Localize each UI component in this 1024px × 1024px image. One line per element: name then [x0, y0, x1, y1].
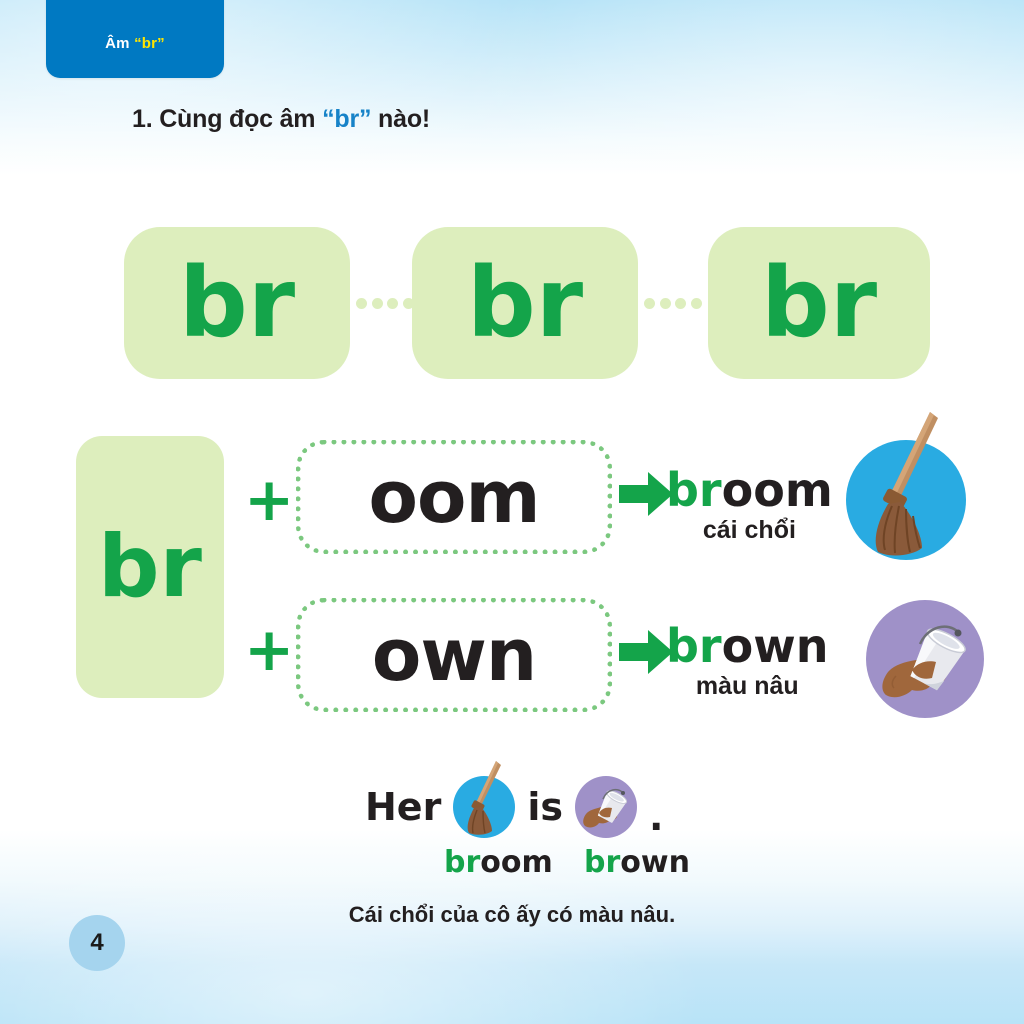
broom-icon	[846, 440, 966, 560]
section-tab-sound: “br”	[134, 35, 165, 52]
dot-connector-1	[356, 296, 414, 310]
sentence-label-broom-prefix: br	[444, 845, 480, 880]
sentence-word-is: is	[527, 788, 563, 826]
brown-paint-picture	[866, 600, 984, 718]
arrow-right-icon	[619, 472, 673, 516]
connector-dot	[387, 298, 398, 309]
paint-bucket-icon	[575, 776, 637, 838]
sentence-word-her: Her	[365, 788, 441, 826]
practice-tile-1: br	[124, 227, 350, 379]
connector-dot	[644, 298, 655, 309]
section-tab-prefix: Âm	[105, 35, 134, 52]
arrow-right-icon	[619, 630, 673, 674]
result-word-broom-rest: oom	[722, 463, 833, 517]
onset-tile: br	[76, 436, 224, 698]
paint-bucket-icon	[866, 600, 984, 718]
connector-dot	[660, 298, 671, 309]
onset-tile-label: br	[98, 524, 202, 610]
rime-box-own-label: own	[372, 619, 536, 691]
sentence-brown-picture	[575, 776, 637, 838]
rime-box-oom: oom	[296, 440, 612, 554]
page-number-badge: 4	[69, 915, 125, 971]
instruction-suffix: nào!	[371, 105, 430, 133]
connector-dot	[372, 298, 383, 309]
practice-tile-1-label: br	[179, 255, 295, 351]
section-tab: Âm “br”	[46, 0, 224, 78]
section-tab-label: Âm “br”	[46, 35, 224, 52]
result-word-brown-text: brown	[666, 622, 828, 670]
dot-connector-2	[644, 296, 702, 310]
result-word-brown-prefix: br	[666, 619, 722, 673]
worksheet-page: Âm “br” 1. Cùng đọc âm “br” nào! br br b…	[0, 0, 1024, 1024]
result-word-broom-prefix: br	[666, 463, 722, 517]
sentence-label-broom: broom	[444, 848, 553, 878]
connector-dot	[675, 298, 686, 309]
instruction-prefix: 1. Cùng đọc âm	[132, 105, 322, 133]
sentence-label-brown-rest: own	[620, 845, 690, 880]
result-word-brown-rest: own	[722, 619, 829, 673]
sentence-period: .	[649, 798, 663, 838]
sentence-caption: Cái chổi của cô ấy có màu nâu.	[0, 902, 1024, 928]
broom-picture	[846, 440, 966, 560]
plus-icon: +	[244, 470, 294, 530]
broom-icon	[453, 776, 515, 838]
plus-icon: +	[244, 620, 294, 680]
rime-box-oom-label: oom	[369, 461, 540, 533]
practice-tile-3: br	[708, 227, 930, 379]
sentence-label-brown-prefix: br	[584, 845, 620, 880]
sentence-label-brown: brown	[584, 848, 690, 878]
result-meaning-broom: cái chổi	[666, 516, 833, 545]
result-meaning-brown: màu nâu	[666, 672, 828, 701]
instruction-sound: “br”	[322, 105, 371, 133]
sentence-row: Her is	[365, 776, 663, 838]
practice-tile-2: br	[412, 227, 638, 379]
practice-tile-2-label: br	[467, 255, 583, 351]
result-word-broom: broom cái chổi	[666, 466, 833, 545]
connector-dot	[356, 298, 367, 309]
result-word-broom-text: broom	[666, 466, 833, 514]
instruction-text: 1. Cùng đọc âm “br” nào!	[132, 105, 430, 134]
practice-tile-3-label: br	[761, 255, 877, 351]
result-word-brown: brown màu nâu	[666, 622, 828, 701]
sentence-broom-picture	[453, 776, 515, 838]
connector-dot	[691, 298, 702, 309]
sentence-label-broom-rest: oom	[480, 845, 552, 880]
rime-box-own: own	[296, 598, 612, 712]
